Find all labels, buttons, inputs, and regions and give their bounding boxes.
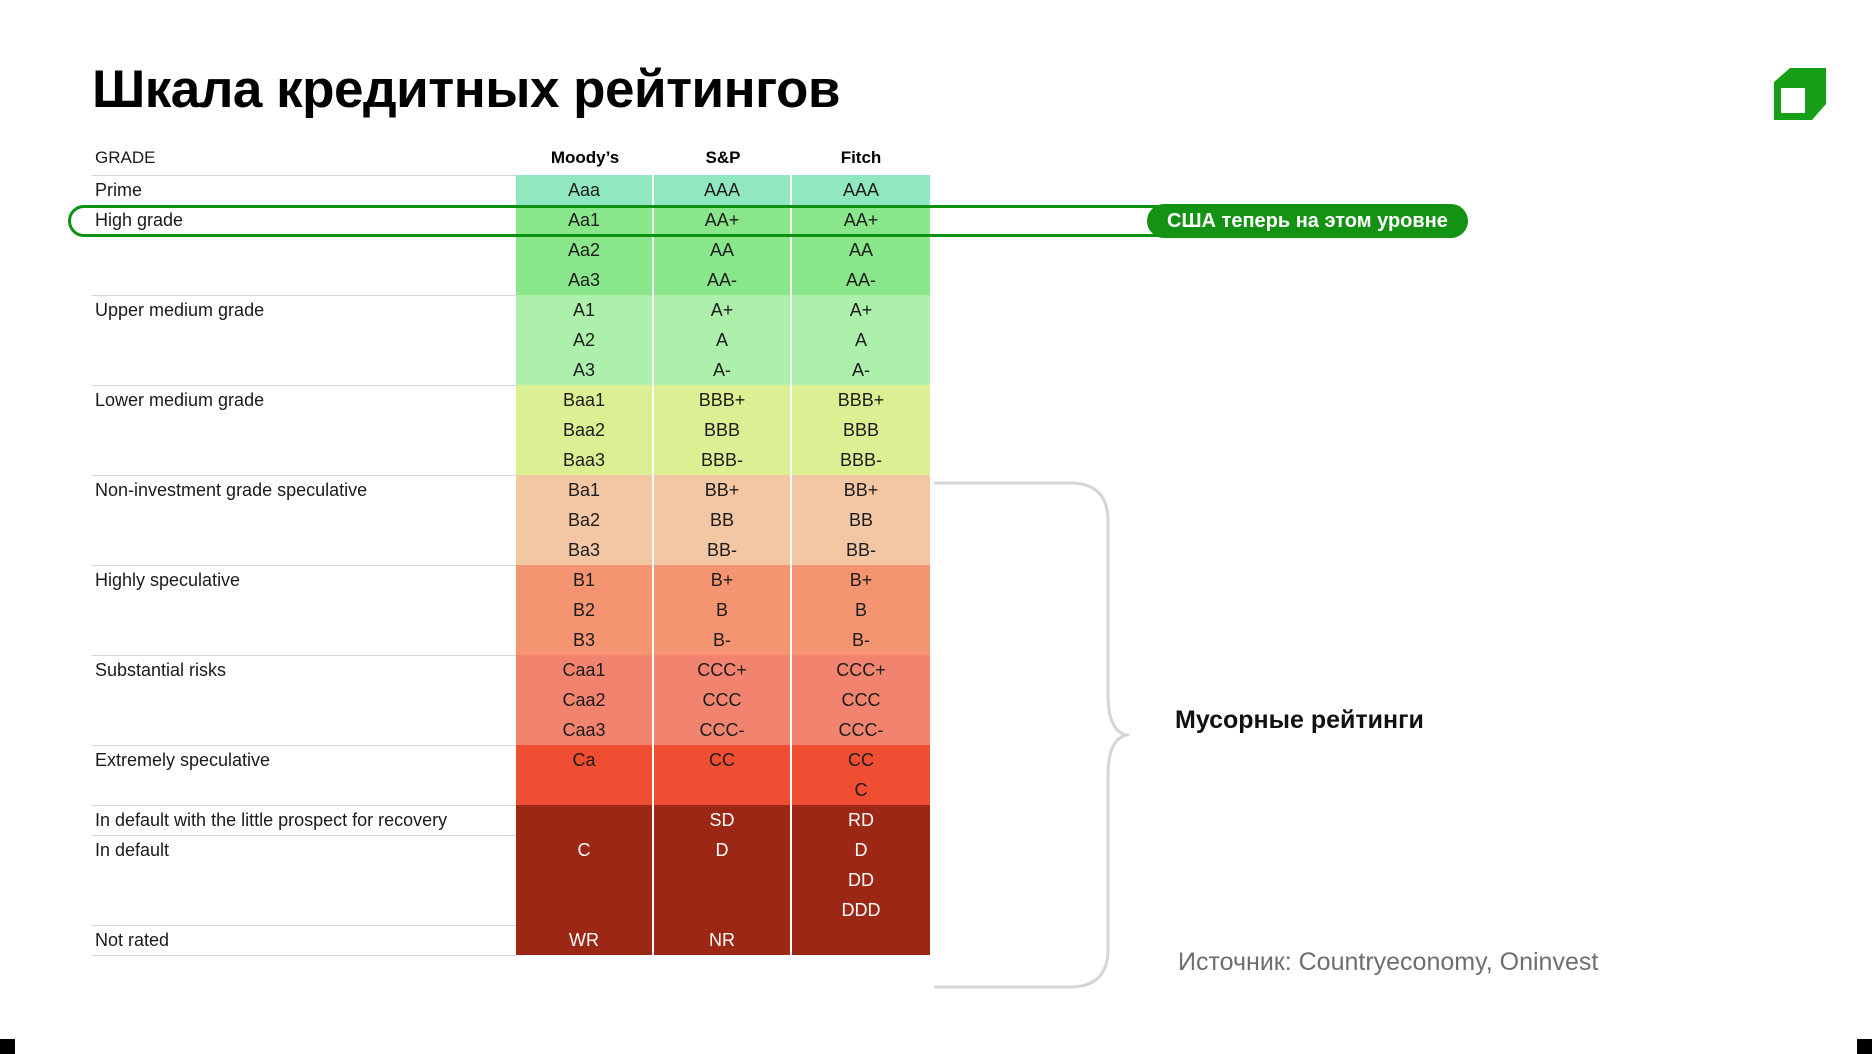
row-group-divider <box>92 295 516 296</box>
sp-symbol-cell: CCC- <box>654 715 792 745</box>
usa-level-badge: США теперь на этом уровне <box>1147 204 1468 238</box>
sp-symbol-cell <box>654 775 792 805</box>
fitch-symbol-cell: CCC- <box>792 715 930 745</box>
fitch-symbol-cell: BBB+ <box>792 385 930 415</box>
moodys-symbol-cell: Aa1 <box>516 205 654 235</box>
fitch-symbol-cell: BB <box>792 505 930 535</box>
fitch-symbol-cell: D <box>792 835 930 865</box>
row-group-divider <box>92 745 516 746</box>
row-group-divider <box>92 565 516 566</box>
fitch-symbol-cell: AA+ <box>792 205 930 235</box>
moodys-symbol-cell: A1 <box>516 295 654 325</box>
fitch-symbol-cell: B+ <box>792 565 930 595</box>
moodys-symbol-cell: B2 <box>516 595 654 625</box>
corner-mark-bottom-left <box>0 1039 15 1054</box>
fitch-symbol-cell: A- <box>792 355 930 385</box>
table-row: Aa3AA-AA- <box>92 265 930 295</box>
grade-label-cell: Highly speculative <box>92 565 516 595</box>
table-bottom-divider <box>92 955 516 956</box>
grade-label-cell <box>92 775 516 805</box>
grade-label-cell: Non-investment grade speculative <box>92 475 516 505</box>
moodys-symbol-cell: A3 <box>516 355 654 385</box>
sp-symbol-cell: A <box>654 325 792 355</box>
table-row: DD <box>92 865 930 895</box>
sp-symbol-cell: A+ <box>654 295 792 325</box>
fitch-symbol-cell: A <box>792 325 930 355</box>
table-header-row: GRADE Moody’s S&P Fitch <box>92 148 930 175</box>
sp-symbol-cell: B+ <box>654 565 792 595</box>
fitch-symbol-cell: CC <box>792 745 930 775</box>
corner-mark-bottom-right <box>1857 1039 1872 1054</box>
moodys-symbol-cell: WR <box>516 925 654 955</box>
table-row: DDD <box>92 895 930 925</box>
moodys-symbol-cell: Baa3 <box>516 445 654 475</box>
fitch-symbol-cell: BB- <box>792 535 930 565</box>
grade-label-cell <box>92 235 516 265</box>
sp-symbol-cell: BBB- <box>654 445 792 475</box>
moodys-symbol-cell: Baa2 <box>516 415 654 445</box>
fitch-symbol-cell: BB+ <box>792 475 930 505</box>
fitch-symbol-cell: BBB <box>792 415 930 445</box>
sp-symbol-cell: CCC+ <box>654 655 792 685</box>
fitch-symbol-cell: RD <box>792 805 930 835</box>
sp-symbol-cell: NR <box>654 925 792 955</box>
table-row: Baa2BBBBBB <box>92 415 930 445</box>
junk-ratings-label: Мусорные рейтинги <box>1175 706 1424 735</box>
table-row: Caa2CCCCCC <box>92 685 930 715</box>
grade-label-cell <box>92 595 516 625</box>
sp-symbol-cell: BB <box>654 505 792 535</box>
grade-label-cell: Not rated <box>92 925 516 955</box>
grade-label-cell: Upper medium grade <box>92 295 516 325</box>
grade-label-cell: In default <box>92 835 516 865</box>
moodys-symbol-cell: Caa2 <box>516 685 654 715</box>
grade-label-cell: Prime <box>92 175 516 205</box>
fitch-symbol-cell: B <box>792 595 930 625</box>
moodys-symbol-cell <box>516 805 654 835</box>
grade-label-cell <box>92 625 516 655</box>
table-row: Aa2AAAA <box>92 235 930 265</box>
table-row: A2AA <box>92 325 930 355</box>
source-note: Источник: Countryeconomy, Oninvest <box>1178 948 1598 977</box>
moodys-symbol-cell: Baa1 <box>516 385 654 415</box>
sp-symbol-cell: BB- <box>654 535 792 565</box>
sp-symbol-cell: A- <box>654 355 792 385</box>
table-row: Highly speculativeB1B+B+ <box>92 565 930 595</box>
fitch-symbol-cell: CCC+ <box>792 655 930 685</box>
sp-symbol-cell: SD <box>654 805 792 835</box>
row-group-divider <box>92 835 516 836</box>
sp-symbol-cell <box>654 895 792 925</box>
ratings-table: GRADE Moody’s S&P Fitch PrimeAaaAAAAAAHi… <box>92 148 930 955</box>
table-row: C <box>92 775 930 805</box>
sp-symbol-cell: CCC <box>654 685 792 715</box>
fitch-symbol-cell: DDD <box>792 895 930 925</box>
column-header-grade: GRADE <box>92 148 516 168</box>
oninvest-logo-icon <box>1768 68 1830 130</box>
fitch-symbol-cell: AAA <box>792 175 930 205</box>
grade-label-cell <box>92 535 516 565</box>
grade-label-cell: High grade <box>92 205 516 235</box>
grade-label-cell <box>92 445 516 475</box>
row-group-divider <box>92 205 516 206</box>
moodys-symbol-cell: Aa2 <box>516 235 654 265</box>
table-row: PrimeAaaAAAAAA <box>92 175 930 205</box>
column-header-fitch: Fitch <box>792 148 930 168</box>
grade-label-cell <box>92 715 516 745</box>
column-header-moodys: Moody’s <box>516 148 654 168</box>
grade-label-cell <box>92 265 516 295</box>
sp-symbol-cell: AA+ <box>654 205 792 235</box>
sp-symbol-cell: AAA <box>654 175 792 205</box>
grade-label-cell: Substantial risks <box>92 655 516 685</box>
fitch-symbol-cell: C <box>792 775 930 805</box>
moodys-symbol-cell: Aa3 <box>516 265 654 295</box>
moodys-symbol-cell: Ba3 <box>516 535 654 565</box>
table-row: High gradeAa1AA+AA+ <box>92 205 930 235</box>
fitch-symbol-cell: CCC <box>792 685 930 715</box>
row-group-divider <box>92 475 516 476</box>
table-row: Caa3CCC-CCC- <box>92 715 930 745</box>
fitch-symbol-cell: DD <box>792 865 930 895</box>
column-header-sp: S&P <box>654 148 792 168</box>
table-row: Non-investment grade speculativeBa1BB+BB… <box>92 475 930 505</box>
table-row: Ba2BBBB <box>92 505 930 535</box>
table-row: In default with the little prospect for … <box>92 805 930 835</box>
sp-symbol-cell: CC <box>654 745 792 775</box>
fitch-symbol-cell: AA <box>792 235 930 265</box>
table-row: Lower medium gradeBaa1BBB+BBB+ <box>92 385 930 415</box>
grade-label-cell <box>92 355 516 385</box>
table-row: Substantial risksCaa1CCC+CCC+ <box>92 655 930 685</box>
moodys-symbol-cell: Caa1 <box>516 655 654 685</box>
moodys-symbol-cell: A2 <box>516 325 654 355</box>
fitch-symbol-cell: BBB- <box>792 445 930 475</box>
moodys-symbol-cell <box>516 775 654 805</box>
sp-symbol-cell: D <box>654 835 792 865</box>
grade-label-cell <box>92 895 516 925</box>
moodys-symbol-cell: B1 <box>516 565 654 595</box>
moodys-symbol-cell: Aaa <box>516 175 654 205</box>
moodys-symbol-cell <box>516 865 654 895</box>
fitch-symbol-cell: AA- <box>792 265 930 295</box>
moodys-symbol-cell: B3 <box>516 625 654 655</box>
sp-symbol-cell: B <box>654 595 792 625</box>
table-row: Baa3BBB-BBB- <box>92 445 930 475</box>
sp-symbol-cell: BBB <box>654 415 792 445</box>
grade-label-cell: In default with the little prospect for … <box>92 805 516 835</box>
table-row: Upper medium gradeA1A+A+ <box>92 295 930 325</box>
table-row: A3A-A- <box>92 355 930 385</box>
sp-symbol-cell: BBB+ <box>654 385 792 415</box>
moodys-symbol-cell <box>516 895 654 925</box>
table-row: B3B-B- <box>92 625 930 655</box>
table-row: In defaultCDD <box>92 835 930 865</box>
row-group-divider <box>92 805 516 806</box>
table-row: Not ratedWRNR <box>92 925 930 955</box>
page-title: Шкала кредитных рейтингов <box>92 62 840 118</box>
sp-symbol-cell: B- <box>654 625 792 655</box>
grade-label-cell <box>92 325 516 355</box>
moodys-symbol-cell: Ba2 <box>516 505 654 535</box>
junk-ratings-brace-icon <box>930 480 1130 990</box>
sp-symbol-cell: AA- <box>654 265 792 295</box>
table-body: PrimeAaaAAAAAAHigh gradeAa1AA+AA+Aa2AAAA… <box>92 175 930 955</box>
moodys-symbol-cell: Ca <box>516 745 654 775</box>
row-group-divider <box>92 655 516 656</box>
fitch-symbol-cell: B- <box>792 625 930 655</box>
sp-symbol-cell: AA <box>654 235 792 265</box>
grade-label-cell <box>92 415 516 445</box>
sp-symbol-cell <box>654 865 792 895</box>
table-row: B2BB <box>92 595 930 625</box>
moodys-symbol-cell: Ba1 <box>516 475 654 505</box>
row-group-divider <box>92 925 516 926</box>
moodys-symbol-cell: Caa3 <box>516 715 654 745</box>
grade-label-cell: Extremely speculative <box>92 745 516 775</box>
moodys-symbol-cell: C <box>516 835 654 865</box>
table-row: Ba3BB-BB- <box>92 535 930 565</box>
sp-symbol-cell: BB+ <box>654 475 792 505</box>
grade-label-cell <box>92 865 516 895</box>
table-header-divider <box>92 175 516 176</box>
grade-label-cell <box>92 685 516 715</box>
table-row: Extremely speculativeCaCCCC <box>92 745 930 775</box>
slide-canvas: Шкала кредитных рейтингов GRADE Moody’s … <box>0 0 1872 1054</box>
grade-label-cell <box>92 505 516 535</box>
row-group-divider <box>92 385 516 386</box>
fitch-symbol-cell: A+ <box>792 295 930 325</box>
grade-label-cell: Lower medium grade <box>92 385 516 415</box>
fitch-symbol-cell <box>792 925 930 955</box>
